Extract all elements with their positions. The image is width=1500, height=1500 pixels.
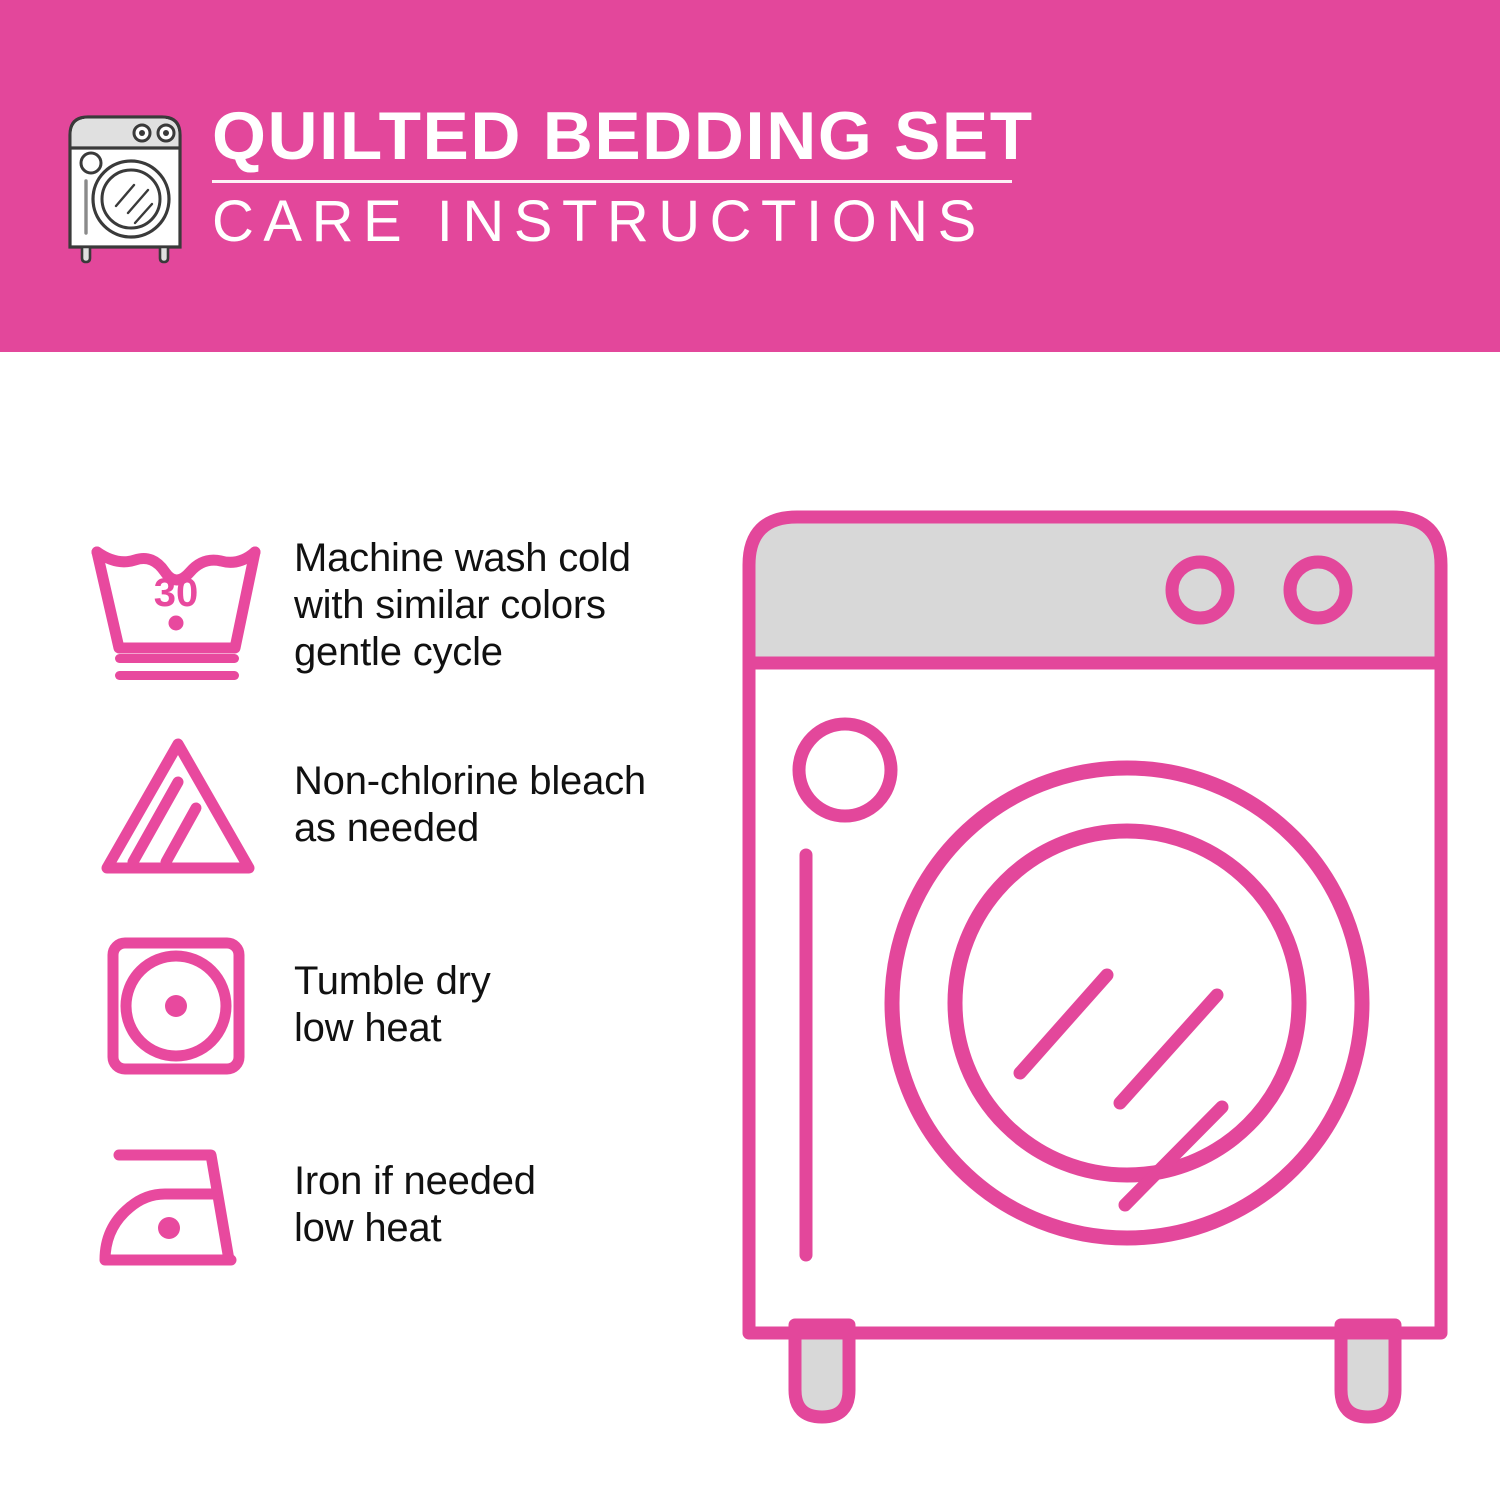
- care-item-label: Non-chlorine bleach as needed: [294, 758, 722, 852]
- machine-wash-30-gentle-icon: 30: [62, 518, 294, 693]
- care-item-label: Iron if needed low heat: [294, 1158, 722, 1252]
- care-instructions-list: 30 Machine wash cold with similar colors…: [62, 505, 722, 1305]
- washer-door-inner-ring: [955, 831, 1299, 1175]
- header-content: QUILTED BEDDING SET CARE INSTRUCTIONS: [60, 100, 1060, 275]
- care-item-bleach: Non-chlorine bleach as needed: [62, 705, 722, 905]
- iron-low-heat-icon: [62, 1118, 294, 1293]
- tumble-dry-low-icon: [62, 918, 294, 1093]
- washing-machine-icon: [60, 105, 190, 265]
- care-item-machine-wash: 30 Machine wash cold with similar colors…: [62, 505, 722, 705]
- page-title: QUILTED BEDDING SET: [212, 100, 1099, 172]
- washer-dispenser-circle: [799, 724, 891, 816]
- header-text-block: QUILTED BEDDING SET CARE INSTRUCTIONS: [212, 100, 1082, 255]
- care-item-tumble-dry: Tumble dry low heat: [62, 905, 722, 1105]
- title-divider: [212, 180, 1012, 183]
- care-instructions-page: QUILTED BEDDING SET CARE INSTRUCTIONS 30: [0, 0, 1500, 1500]
- care-item-label: Machine wash cold with similar colors ge…: [294, 535, 722, 676]
- non-chlorine-bleach-triangle-icon: [62, 718, 294, 893]
- washer-control-panel: [749, 517, 1441, 663]
- large-washing-machine-illustration: [735, 495, 1455, 1435]
- header-banner: QUILTED BEDDING SET CARE INSTRUCTIONS: [0, 0, 1500, 352]
- care-item-label: Tumble dry low heat: [294, 958, 722, 1052]
- wash-temperature-label: 30: [154, 571, 199, 615]
- page-subtitle: CARE INSTRUCTIONS: [212, 189, 1082, 255]
- care-item-iron: Iron if needed low heat: [62, 1105, 722, 1305]
- washer-door-streak-1: [1020, 975, 1107, 1073]
- washer-door-streak-2: [1120, 995, 1217, 1103]
